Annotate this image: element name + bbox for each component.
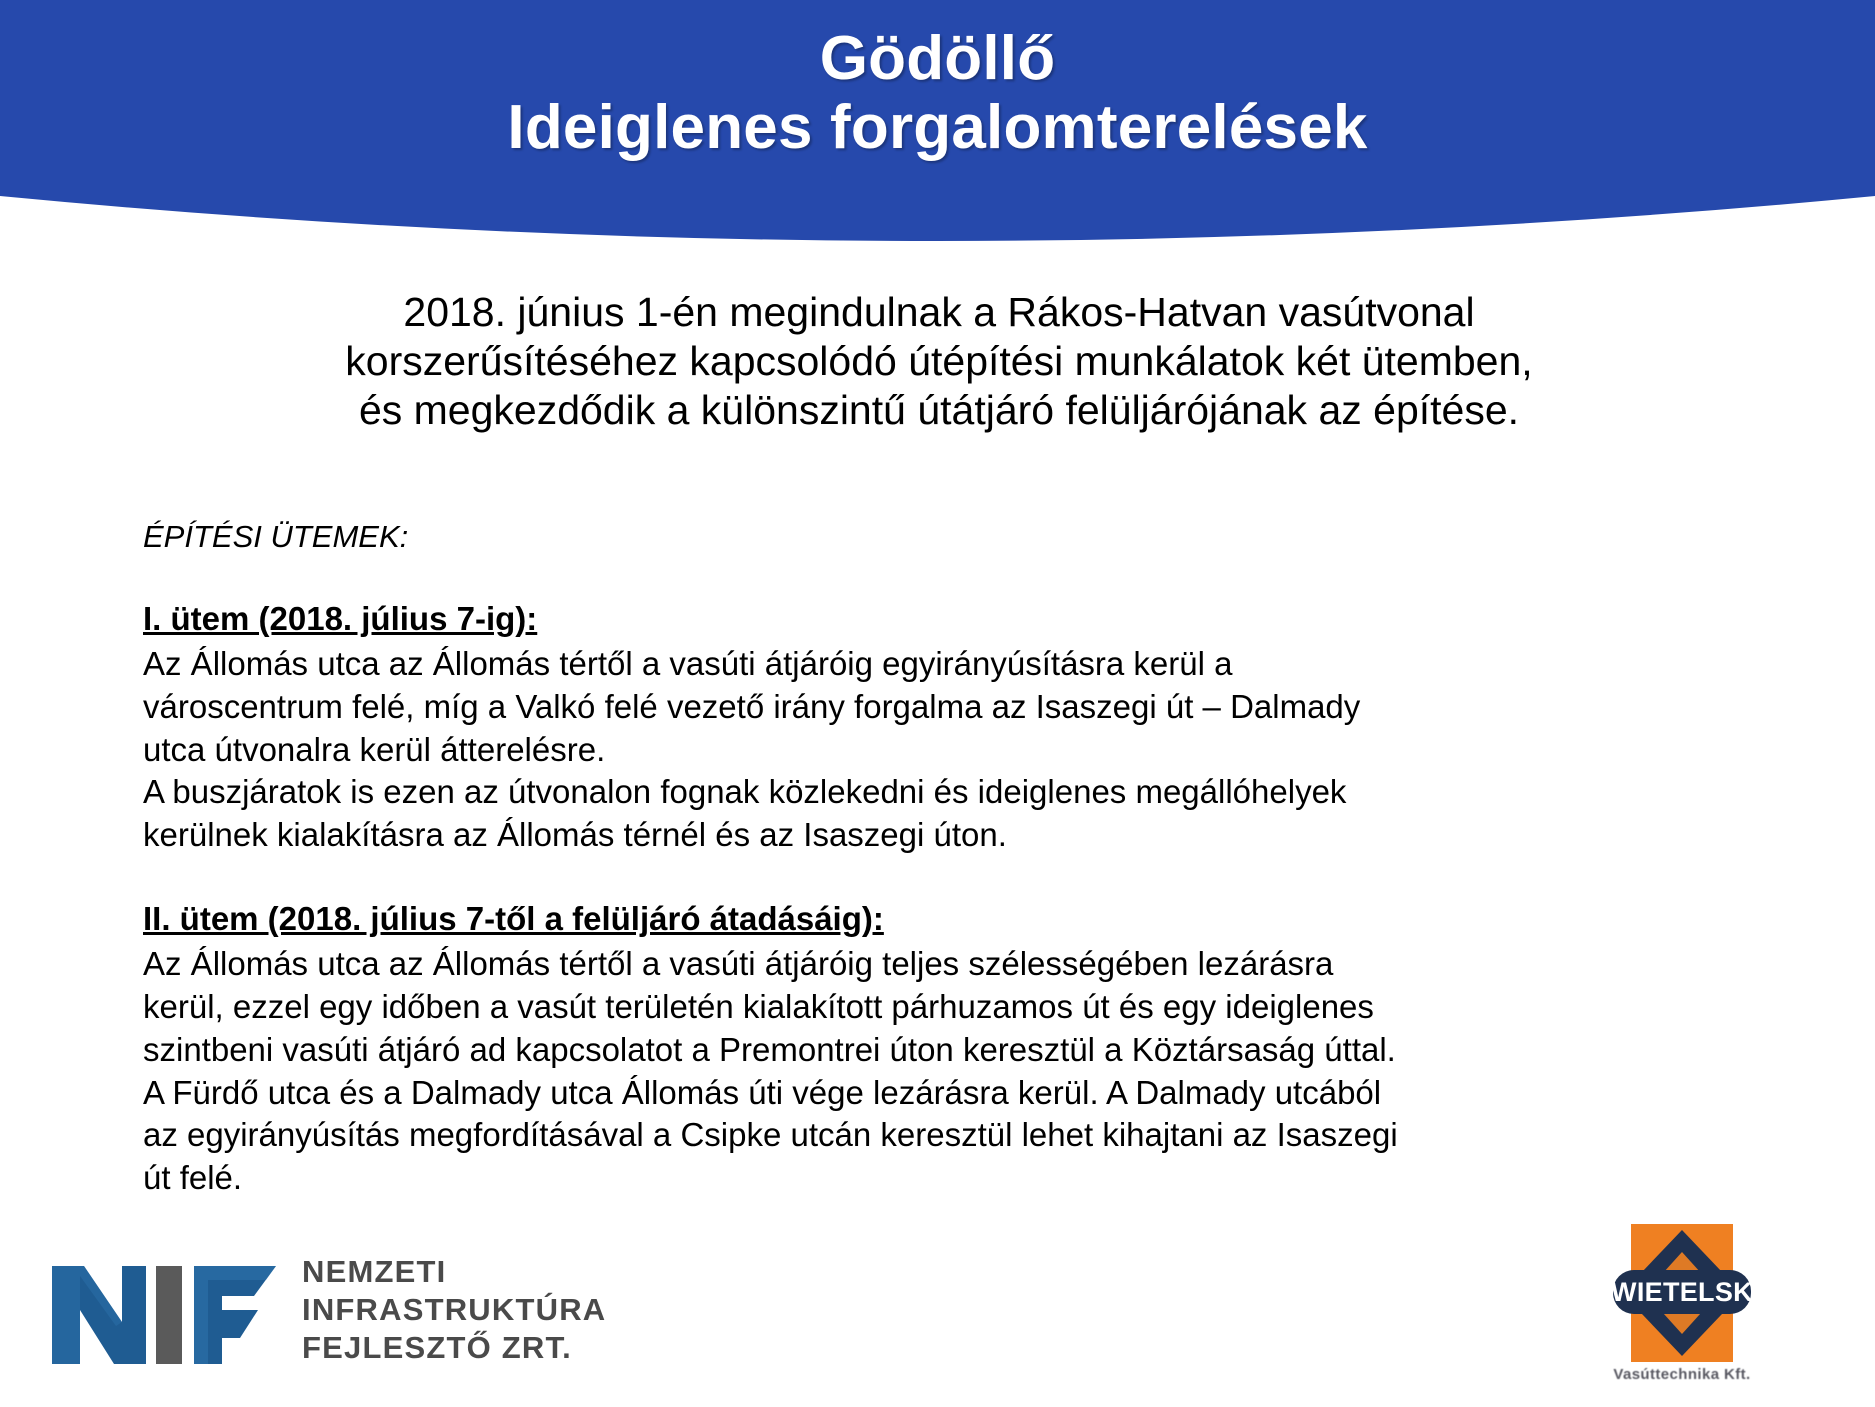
phase-2-line-3: szintbeni vasúti átjáró ad kapcsolatot a…: [143, 1029, 1743, 1072]
nif-wordmark-line-2: INFRASTRUKTÚRA: [302, 1291, 606, 1329]
phase-2-line-2: kerül, ezzel egy időben a vasút területé…: [143, 986, 1743, 1029]
intro-paragraph: 2018. június 1-én megindulnak a Rákos-Ha…: [140, 288, 1738, 436]
phase-spacer: [143, 857, 1743, 899]
phase-2-line-4: A Fürdő utca és a Dalmady utca Állomás ú…: [143, 1072, 1743, 1115]
intro-line-3: és megkezdődik a különszintű útátjáró fe…: [140, 386, 1738, 435]
section-label-construction-phases: ÉPÍTÉSI ÜTEMEK:: [143, 518, 1743, 555]
phase-2-line-5: az egyirányúsítás megfordításával a Csip…: [143, 1114, 1743, 1157]
phase-2-line-6: út felé.: [143, 1157, 1743, 1200]
phase-1-heading: I. ütem (2018. július 7-ig):: [143, 599, 1743, 639]
phase-2-line-1: Az Állomás utca az Állomás tértől a vasú…: [143, 943, 1743, 986]
intro-line-1: 2018. június 1-én megindulnak a Rákos-Ha…: [140, 288, 1738, 337]
swietelsky-subtitle: Vasúttechnika Kft.: [1592, 1366, 1772, 1383]
nif-wordmark-line-1: NEMZETI: [302, 1253, 606, 1291]
swietelsky-wordmark-text: SWIETELSKY: [1607, 1277, 1757, 1307]
phase-1-line-5: kerülnek kialakításra az Állomás térnél …: [143, 814, 1743, 857]
phase-2-heading: II. ütem (2018. július 7-től a felüljáró…: [143, 899, 1743, 939]
nif-wordmark: NEMZETI INFRASTRUKTÚRA FEJLESZTŐ ZRT.: [302, 1253, 606, 1367]
page-title: Gödöllő Ideiglenes forgalomterelések: [0, 24, 1875, 163]
phase-1-line-3: utca útvonalra kerül átterelésre.: [143, 729, 1743, 772]
nif-wordmark-line-3: FEJLESZTŐ ZRT.: [302, 1329, 606, 1367]
header-banner: Gödöllő Ideiglenes forgalomterelések: [0, 0, 1875, 262]
page-title-line-1: Gödöllő: [0, 24, 1875, 93]
phase-2-body: Az Állomás utca az Állomás tértől a vasú…: [143, 943, 1743, 1200]
phase-1-line-2: városcentrum felé, míg a Valkó felé veze…: [143, 686, 1743, 729]
phase-1-line-4: A buszjáratok is ezen az útvonalon fogna…: [143, 771, 1743, 814]
slide-root: Gödöllő Ideiglenes forgalomterelések 201…: [0, 0, 1875, 1407]
nif-emblem-icon: [50, 1252, 280, 1368]
phase-1-line-1: Az Állomás utca az Állomás tértől a vasú…: [143, 643, 1743, 686]
nif-logo: NEMZETI INFRASTRUKTÚRA FEJLESZTŐ ZRT.: [50, 1248, 670, 1372]
swietelsky-logo: SWIETELSKY Vasúttechnika Kft.: [1592, 1222, 1772, 1397]
page-title-line-2: Ideiglenes forgalomterelések: [0, 93, 1875, 162]
intro-line-2: korszerűsítéséhez kapcsolódó útépítési m…: [140, 337, 1738, 386]
phase-1-body: Az Állomás utca az Állomás tértől a vasú…: [143, 643, 1743, 857]
swietelsky-emblem-icon: SWIETELSKY: [1607, 1222, 1757, 1364]
body-content: ÉPÍTÉSI ÜTEMEK: I. ütem (2018. július 7-…: [143, 518, 1743, 1200]
